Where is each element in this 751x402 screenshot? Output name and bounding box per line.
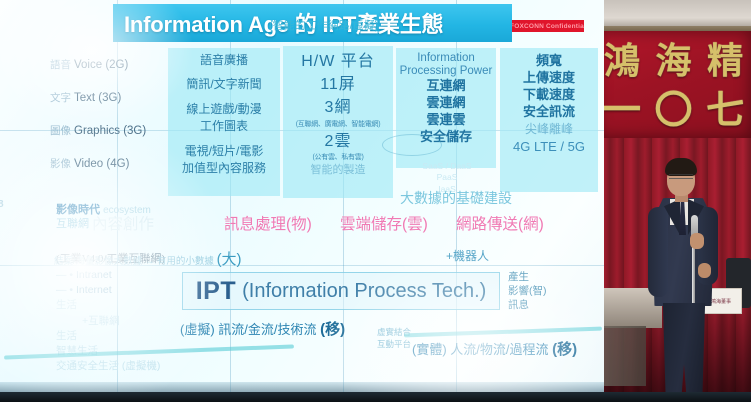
- media-evolution-column: 語音 Voice (2G) 文字 Text (3G) 圖像 Graphics (…: [50, 48, 168, 196]
- bullet-intranet: — • Intranet: [56, 268, 186, 283]
- ipt-definition-box: IPT (Information Process Tech.): [182, 272, 500, 310]
- network-peak-offpeak: 尖峰離峰: [500, 121, 598, 138]
- screenshot-root: 鴻 海 精 一 〇 七 鴻海董事: [0, 0, 751, 402]
- virtual-flow-text: (虛擬) 訊流/金流/技術流: [180, 322, 317, 337]
- ipt-full-name: (Information Process Tech.): [242, 280, 486, 303]
- evolution-row: 影像 Video (4G): [50, 147, 168, 180]
- evolution-en-label: Graphics (3G): [74, 125, 146, 137]
- pink-capability-row: 內容創作 訊息處理(物) 雲端儲存(雲) 網路傳送(網): [52, 212, 592, 246]
- processing-title-line1: Information: [396, 52, 496, 65]
- evolution-row: 語音 Voice (2G): [50, 48, 168, 81]
- physical-flow-text: (實體) 人流/物流/過程流: [412, 342, 549, 357]
- ipt-abbreviation: IPT: [196, 277, 236, 306]
- network-item: 頻寬: [500, 52, 598, 69]
- content-row: 簡訊/文字新聞: [168, 76, 280, 93]
- processing-item: 雲連網: [396, 95, 496, 112]
- ipt-note-line: 影響(智): [508, 284, 568, 298]
- evolution-row: 文字 Text (3G): [50, 81, 168, 114]
- faint-line: 交通安全生活 (虛擬機): [56, 359, 186, 374]
- bigdata-marker: (大): [217, 251, 242, 268]
- ipt-output-note: 產生 影響(智) 訊息: [508, 270, 568, 313]
- ipt-note-line: 訊息: [508, 298, 568, 312]
- network-item: 安全訊流: [500, 103, 598, 120]
- banner-char: 〇: [654, 92, 692, 130]
- platform-2clouds: 2雲: [283, 130, 393, 153]
- virtual-flow-label: (虛擬) 訊流/金流/技術流 (移): [180, 318, 345, 339]
- decorative-ellipse: [382, 134, 442, 156]
- content-row: 工作圖表: [168, 118, 280, 135]
- legs: [660, 303, 708, 402]
- spacer: [168, 94, 280, 101]
- robot-addon-label: +機器人: [446, 247, 489, 264]
- banner-row-top: 鴻 海 精: [596, 37, 751, 85]
- content-row: 線上遊戲/動漫: [168, 101, 280, 118]
- content-row: 加值型內容服務: [168, 160, 280, 177]
- evolution-cn-label: 文字: [50, 90, 71, 105]
- banner-row-bottom: 一 〇 七: [596, 87, 751, 135]
- left-arm: [648, 207, 668, 297]
- evolution-en-label: Video (4G): [74, 158, 129, 170]
- pink-row-subtitle: (智能的工作網路/虛擬): [269, 17, 378, 33]
- service-model: PaaS: [404, 172, 490, 183]
- bigdata-infrastructure-label: 大數據的基礎建設: [400, 188, 600, 208]
- service-model: SaaS / DaaS: [404, 161, 490, 172]
- bullet-internet: — • Internet: [56, 283, 186, 298]
- banner-char: 七: [706, 92, 744, 130]
- platform-note-line: 互動平台: [372, 338, 416, 350]
- speaker-figure: [640, 155, 730, 402]
- platform-3networks: 3網: [283, 96, 393, 119]
- platform-title: H/W 平台: [283, 50, 393, 73]
- pink-item-content-creation: 內容創作: [92, 212, 154, 234]
- ipt-note-line: 產生: [508, 270, 568, 284]
- processing-title-line2: Processing Power: [396, 65, 496, 78]
- pink-item-info-processing: 訊息處理(物): [224, 212, 312, 234]
- evolution-en-label: Voice (2G): [74, 59, 128, 71]
- content-row: 語音廣播: [168, 52, 280, 69]
- platform-cloud-detail: (公有雲、私有雲): [283, 153, 393, 163]
- pink-item-cloud-storage: 雲端儲存(雲): [340, 212, 428, 234]
- content-row: 電視/短片/電影: [168, 143, 280, 160]
- spacer: [168, 69, 280, 76]
- banner-char: 精: [707, 43, 743, 79]
- processing-item: 互連網: [396, 78, 496, 95]
- slide-page-number: 8: [0, 199, 4, 210]
- network-tech: 4G LTE / 5G: [500, 138, 598, 157]
- hand-lower: [698, 263, 711, 278]
- column-content-creation: 語音廣播 簡訊/文字新聞 線上遊戲/動漫 工作圖表 電視/短片/電影 加值型內容…: [168, 48, 280, 196]
- bigdata-to-smalldata-text: 結案/海量影像大數據 → 有用的小數據: [54, 256, 214, 267]
- projected-slide: Information Age 的 IPT產業生態 FOXCONN Confid…: [0, 0, 604, 398]
- physical-flow-move: (移): [552, 341, 577, 358]
- spacer: [168, 136, 280, 143]
- banner-char: 海: [655, 43, 691, 79]
- glasses-icon: [669, 174, 693, 179]
- evolution-row: 圖像 Graphics (3G): [50, 114, 168, 147]
- banner-char: 鴻: [604, 43, 640, 79]
- platform-smart-manufacturing: 智能的製造: [283, 163, 393, 179]
- projector-glare: [322, 246, 604, 398]
- column-network-capability: 頻寬 上傳速度 下載速度 安全訊流 尖峰離峰 4G LTE / 5G: [500, 48, 598, 192]
- virtual-physical-platform-note: 虛實結合 互動平台: [372, 326, 416, 351]
- faint-line: +互聯網: [56, 314, 186, 329]
- processing-item: 雲連雲: [396, 112, 496, 129]
- faint-line: 生活: [56, 329, 186, 344]
- hand-holding-mic: [690, 233, 704, 249]
- platform-network-detail: (互聯網、廣電網、智能電網): [283, 120, 393, 130]
- evolution-cn-label: 影像: [50, 156, 71, 171]
- bullet-label: Intranet: [76, 269, 112, 281]
- red-banner: 鴻 海 精 一 〇 七: [596, 31, 751, 138]
- pink-item-network-transfer: 網路傳送(網): [456, 212, 544, 234]
- virtual-flow-move: (移): [320, 321, 345, 338]
- bigdata-to-smalldata-row: 結案/海量影像大數據 → 有用的小數據 (大) +機器人: [54, 248, 594, 266]
- platform-11screens: 11屏: [283, 73, 393, 96]
- dash-icon: — •: [56, 269, 73, 281]
- column-hw-platform: H/W 平台 11屏 3網 (互聯網、廣電網、智能電網) 2雲 (公有雲、私有雲…: [283, 46, 393, 198]
- evolution-en-label: Text (3G): [74, 92, 121, 104]
- bottom-letterbox: [0, 392, 751, 402]
- faint-line: 生活: [56, 298, 186, 313]
- banner-char: 一: [603, 92, 641, 130]
- network-item: 下載速度: [500, 86, 598, 103]
- bullet-label: Internet: [76, 284, 112, 296]
- confidential-badge: FOXCONN Confidential: [512, 20, 584, 32]
- physical-flow-label: (實體) 人流/物流/過程流 (移): [412, 338, 577, 359]
- network-item: 上傳速度: [500, 69, 598, 86]
- teal-underline-sweep-right: [404, 327, 602, 338]
- evolution-cn-label: 圖像: [50, 123, 71, 138]
- evolution-cn-label: 語音: [50, 57, 71, 72]
- dash-icon: — •: [56, 284, 73, 296]
